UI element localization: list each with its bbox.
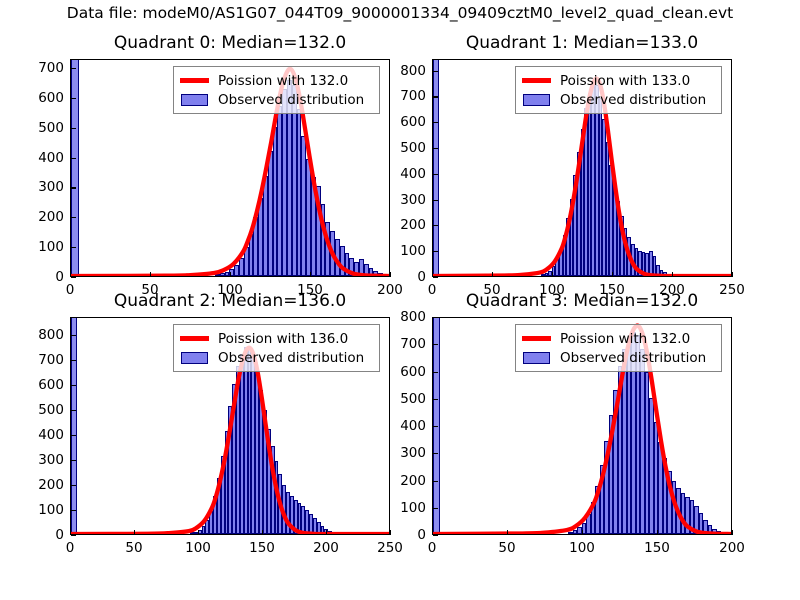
ytick-mark [433, 372, 438, 373]
xtick-label-quadrant-3: 0 [428, 540, 437, 556]
ytick-mark [433, 453, 438, 454]
xtick-mark [432, 530, 433, 535]
legend-quadrant-3[interactable]: Poission with 132.0Observed distribution [515, 324, 722, 372]
ytick-label-quadrant-3: 500 [400, 391, 426, 407]
legend-label: Poission with 132.0 [560, 331, 690, 347]
ytick-label-quadrant-3: 300 [400, 445, 426, 461]
xtick-mark [657, 530, 658, 535]
ytick-label-quadrant-3: 200 [400, 473, 426, 489]
xtick-label-quadrant-3: 100 [569, 540, 595, 556]
xtick-mark [582, 530, 583, 535]
ytick-mark [433, 317, 438, 318]
xtick-label-quadrant-3: 150 [644, 540, 670, 556]
xtick-label-quadrant-3: 50 [498, 540, 515, 556]
ytick-mark [433, 535, 438, 536]
legend-line-swatch [522, 331, 551, 347]
legend-entry-hist: Observed distribution [522, 348, 714, 367]
ytick-mark [433, 426, 438, 427]
ytick-label-quadrant-3: 700 [400, 336, 426, 352]
ytick-mark [433, 481, 438, 482]
legend-patch-swatch [522, 350, 551, 366]
fit-line-marker [522, 336, 551, 341]
matplotlib-figure: Data file: modeM0/AS1G07_044T09_90000013… [0, 0, 800, 600]
ytick-mark [433, 344, 438, 345]
ytick-mark [433, 399, 438, 400]
ytick-label-quadrant-3: 0 [417, 527, 426, 543]
ytick-label-quadrant-3: 100 [400, 500, 426, 516]
histogram-patch-marker [523, 352, 550, 364]
xtick-mark [507, 530, 508, 535]
xtick-mark [732, 530, 733, 535]
subplot-title-quadrant-3: Quadrant 3: Median=132.0 [432, 291, 732, 311]
ytick-label-quadrant-3: 800 [400, 309, 426, 325]
subplot-quadrant-3: Quadrant 3: Median=132.00100200300400500… [0, 0, 800, 600]
ytick-label-quadrant-3: 400 [400, 418, 426, 434]
xtick-label-quadrant-3: 200 [719, 540, 745, 556]
legend-entry-fit: Poission with 132.0 [522, 329, 714, 348]
legend-label: Observed distribution [560, 350, 706, 366]
ytick-label-quadrant-3: 600 [400, 364, 426, 380]
ytick-mark [433, 508, 438, 509]
